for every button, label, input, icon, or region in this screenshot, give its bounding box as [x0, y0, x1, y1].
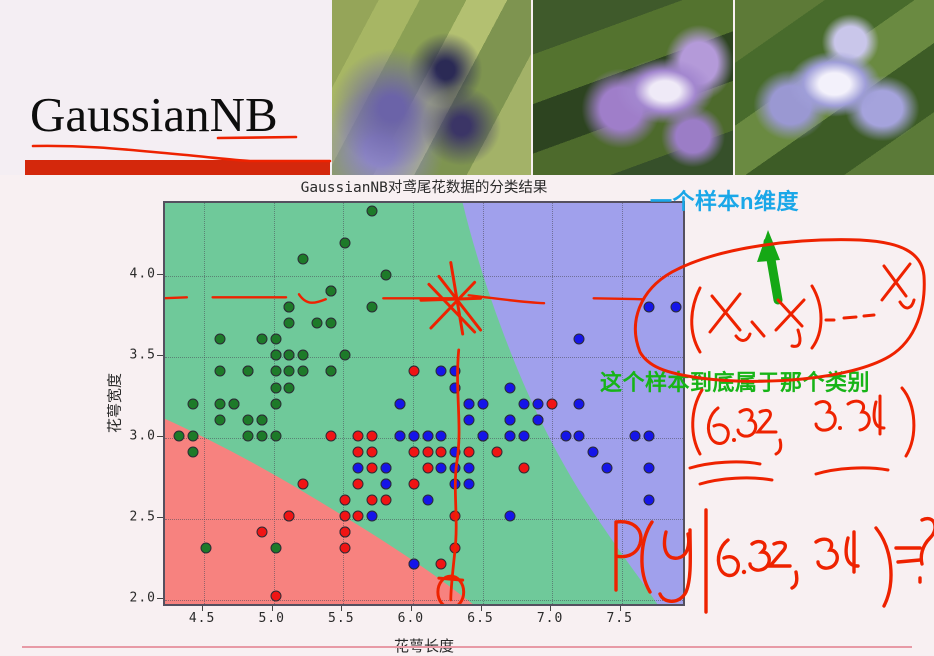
- title-accent-bar: [25, 160, 330, 175]
- data-point-setosa: [298, 366, 309, 377]
- data-point-virginica: [408, 558, 419, 569]
- data-point-setosa: [229, 398, 240, 409]
- data-point-virginica: [436, 430, 447, 441]
- data-point-versicolor: [546, 398, 557, 409]
- data-point-setosa: [270, 398, 281, 409]
- data-point-virginica: [394, 430, 405, 441]
- data-point-versicolor: [422, 446, 433, 457]
- data-point-setosa: [256, 414, 267, 425]
- data-point-setosa: [339, 238, 350, 249]
- data-point-setosa: [325, 366, 336, 377]
- data-point-virginica: [422, 430, 433, 441]
- data-point-virginica: [505, 414, 516, 425]
- data-point-virginica: [643, 430, 654, 441]
- data-point-setosa: [339, 350, 350, 361]
- data-point-setosa: [367, 206, 378, 217]
- data-point-setosa: [298, 350, 309, 361]
- data-point-setosa: [270, 382, 281, 393]
- data-point-versicolor: [519, 462, 530, 473]
- data-point-versicolor: [298, 478, 309, 489]
- data-point-virginica: [505, 382, 516, 393]
- data-point-virginica: [505, 510, 516, 521]
- data-point-virginica: [463, 478, 474, 489]
- data-point-versicolor: [463, 446, 474, 457]
- annotation-which-class: 这个样本到底属于那个类别: [600, 366, 920, 399]
- y-tick: 2.0: [130, 590, 156, 605]
- data-point-versicolor: [450, 510, 461, 521]
- title-card: GaussianNB: [0, 0, 334, 175]
- region-versicolor: [165, 203, 683, 604]
- data-point-virginica: [505, 430, 516, 441]
- data-point-virginica: [643, 302, 654, 313]
- slide-root: GaussianNB GaussianNB对鸢尾花数据的分类结果: [0, 0, 934, 655]
- data-point-virginica: [560, 430, 571, 441]
- data-point-setosa: [298, 254, 309, 265]
- data-point-setosa: [187, 430, 198, 441]
- data-point-virginica: [450, 366, 461, 377]
- data-point-versicolor: [325, 430, 336, 441]
- data-point-setosa: [215, 366, 226, 377]
- data-point-versicolor: [367, 446, 378, 457]
- data-point-setosa: [256, 334, 267, 345]
- data-point-virginica: [533, 398, 544, 409]
- scatter-plot: [163, 201, 685, 606]
- data-point-setosa: [270, 366, 281, 377]
- data-point-setosa: [173, 430, 184, 441]
- data-point-virginica: [367, 510, 378, 521]
- data-point-virginica: [450, 478, 461, 489]
- data-point-virginica: [574, 334, 585, 345]
- data-point-virginica: [629, 430, 640, 441]
- data-point-setosa: [187, 398, 198, 409]
- data-point-setosa: [256, 430, 267, 441]
- data-point-versicolor: [436, 446, 447, 457]
- data-point-virginica: [463, 462, 474, 473]
- data-point-setosa: [325, 286, 336, 297]
- data-point-virginica: [602, 462, 613, 473]
- data-point-virginica: [353, 462, 364, 473]
- data-point-versicolor: [353, 430, 364, 441]
- data-point-versicolor: [408, 366, 419, 377]
- data-point-virginica: [436, 462, 447, 473]
- green-arrow-icon: [757, 230, 780, 300]
- data-point-versicolor: [353, 478, 364, 489]
- iris-photo-1: [332, 0, 533, 175]
- data-point-virginica: [381, 462, 392, 473]
- data-point-versicolor: [408, 446, 419, 457]
- data-point-versicolor: [367, 494, 378, 505]
- data-point-setosa: [284, 302, 295, 313]
- data-point-versicolor: [408, 478, 419, 489]
- data-point-setosa: [284, 318, 295, 329]
- data-point-setosa: [270, 350, 281, 361]
- data-point-virginica: [574, 398, 585, 409]
- data-point-setosa: [381, 270, 392, 281]
- data-point-versicolor: [284, 510, 295, 521]
- data-point-versicolor: [256, 526, 267, 537]
- bottom-divider: [22, 646, 912, 648]
- x-tick: 6.0: [398, 611, 424, 626]
- data-point-versicolor: [422, 462, 433, 473]
- data-point-setosa: [187, 446, 198, 457]
- data-point-virginica: [450, 462, 461, 473]
- ink-sample-values: [690, 388, 914, 484]
- data-point-virginica: [588, 446, 599, 457]
- ink-vector-expression: [692, 264, 914, 352]
- data-point-setosa: [215, 334, 226, 345]
- y-tick: 2.5: [130, 509, 156, 524]
- data-point-setosa: [367, 302, 378, 313]
- data-point-virginica: [574, 430, 585, 441]
- data-point-setosa: [325, 318, 336, 329]
- data-point-virginica: [381, 478, 392, 489]
- data-point-versicolor: [436, 558, 447, 569]
- data-point-virginica: [643, 494, 654, 505]
- data-point-versicolor: [353, 446, 364, 457]
- x-tick: 7.5: [606, 611, 632, 626]
- x-tick: 7.0: [537, 611, 563, 626]
- x-tick: 5.5: [328, 611, 354, 626]
- data-point-setosa: [270, 430, 281, 441]
- data-point-setosa: [242, 430, 253, 441]
- data-point-versicolor: [339, 542, 350, 553]
- data-point-virginica: [436, 366, 447, 377]
- chart-title: GaussianNB对鸢尾花数据的分类结果: [163, 176, 685, 197]
- data-point-setosa: [215, 414, 226, 425]
- annotation-sample-dimension: 一个样本n维度: [650, 184, 799, 216]
- iris-photo-strip: [332, 0, 934, 175]
- data-point-virginica: [533, 414, 544, 425]
- data-point-virginica: [519, 430, 530, 441]
- y-tick: 3.0: [130, 428, 156, 443]
- data-point-versicolor: [367, 430, 378, 441]
- data-point-setosa: [270, 334, 281, 345]
- data-point-setosa: [242, 414, 253, 425]
- data-point-versicolor: [367, 462, 378, 473]
- data-point-versicolor: [450, 542, 461, 553]
- data-point-virginica: [394, 398, 405, 409]
- data-point-virginica: [450, 446, 461, 457]
- data-point-versicolor: [339, 510, 350, 521]
- y-tick: 3.5: [130, 347, 156, 362]
- data-point-virginica: [643, 462, 654, 473]
- x-tick: 6.5: [467, 611, 493, 626]
- data-point-versicolor: [381, 494, 392, 505]
- data-point-setosa: [215, 398, 226, 409]
- data-point-virginica: [450, 382, 461, 393]
- x-tick: 5.0: [258, 611, 284, 626]
- data-point-virginica: [519, 398, 530, 409]
- data-point-setosa: [311, 318, 322, 329]
- data-point-setosa: [284, 382, 295, 393]
- data-point-setosa: [284, 366, 295, 377]
- data-point-setosa: [242, 366, 253, 377]
- data-point-virginica: [422, 494, 433, 505]
- data-point-versicolor: [339, 526, 350, 537]
- data-point-setosa: [201, 542, 212, 553]
- data-point-virginica: [463, 398, 474, 409]
- data-point-virginica: [671, 302, 682, 313]
- iris-photo-3: [735, 0, 934, 175]
- data-point-setosa: [270, 542, 281, 553]
- data-point-versicolor: [353, 510, 364, 521]
- data-point-virginica: [477, 430, 488, 441]
- data-point-versicolor: [270, 591, 281, 602]
- iris-photo-2: [533, 0, 734, 175]
- x-tick: 4.5: [189, 611, 215, 626]
- data-point-versicolor: [491, 446, 502, 457]
- data-point-virginica: [408, 430, 419, 441]
- y-axis-label: 花萼宽度: [104, 373, 125, 433]
- y-tick: 4.0: [130, 266, 156, 281]
- page-title: GaussianNB: [30, 86, 278, 143]
- data-point-setosa: [284, 350, 295, 361]
- data-point-virginica: [463, 414, 474, 425]
- data-point-versicolor: [339, 494, 350, 505]
- data-point-virginica: [477, 398, 488, 409]
